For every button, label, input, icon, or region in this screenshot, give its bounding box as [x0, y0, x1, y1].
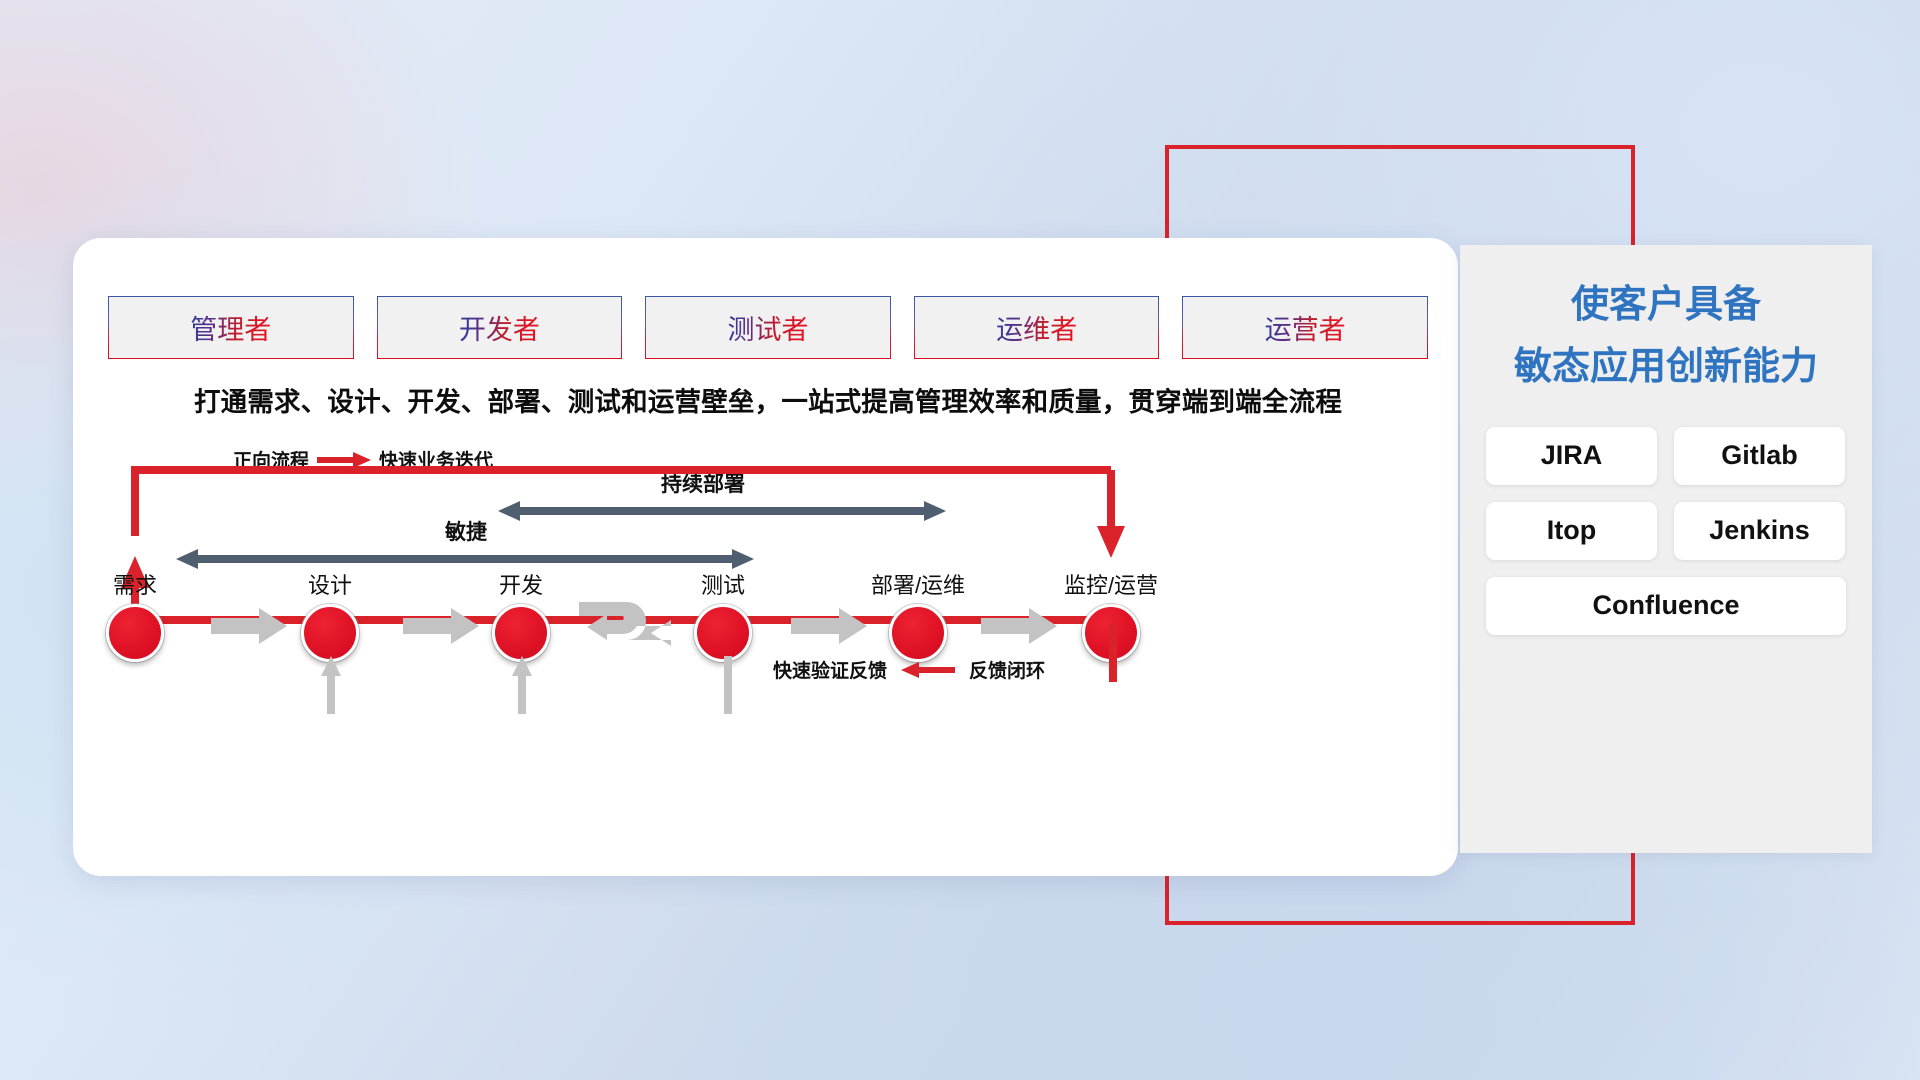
right-panel-title-line1: 使客户具备 [1486, 279, 1846, 333]
role-label: 管理者 [190, 308, 271, 347]
pipeline-row: 需求 设计 开发 测试 [73, 568, 1458, 698]
pipeline-node-testing[interactable]: 测试 [668, 568, 778, 662]
tool-chip-confluence[interactable]: Confluence [1486, 577, 1846, 635]
pipeline-node-requirement[interactable]: 需求 [80, 568, 190, 662]
band-label-continuous-deployment: 持续部署 [661, 468, 745, 498]
role-label: 开发者 [459, 308, 540, 347]
legend-forward-flow: 正向流程 快速业务迭代 [233, 446, 493, 473]
red-right-arrow-icon [317, 451, 371, 469]
right-panel-title: 使客户具备 敏态应用创新能力 [1486, 279, 1846, 395]
role-box-operator[interactable]: 运营者 [1182, 296, 1428, 359]
role-box-manager[interactable]: 管理者 [108, 296, 354, 359]
right-panel-title-line2: 敏态应用创新能力 [1486, 341, 1846, 395]
tool-chip-gitlab[interactable]: Gitlab [1674, 427, 1845, 485]
node-label: 监控/运营 [1056, 568, 1166, 600]
double-arrow-continuous-deployment-icon [498, 500, 946, 522]
red-left-arrow-icon [901, 661, 955, 679]
cycle-arrow-icon [579, 594, 671, 656]
pipeline-node-development[interactable]: 开发 [466, 568, 576, 662]
node-dot [301, 604, 359, 662]
node-dot [694, 604, 752, 662]
role-box-ops[interactable]: 运维者 [914, 296, 1160, 359]
block-arrow-up-icon [511, 656, 533, 714]
double-arrow-agile-icon [176, 548, 754, 570]
main-diagram-card: 管理者 开发者 测试者 运维者 运营者 打通需求、设计、开发、部署、测试和运营壁… [73, 238, 1458, 876]
node-label: 部署/运维 [863, 568, 973, 600]
node-label: 设计 [275, 568, 385, 600]
role-label: 测试者 [727, 308, 808, 347]
node-dot [492, 604, 550, 662]
node-label: 测试 [668, 568, 778, 600]
role-label: 运维者 [996, 308, 1077, 347]
tool-chip-list: JIRA Gitlab Itop Jenkins Confluence [1486, 427, 1846, 635]
pipeline-stem-icon [717, 656, 739, 714]
legend-feedback-loop: 快速验证反馈 反馈闭环 [773, 656, 1045, 683]
legend-forward-to-label: 快速业务迭代 [379, 446, 493, 473]
right-tools-panel: 使客户具备 敏态应用创新能力 JIRA Gitlab Itop Jenkins … [1460, 245, 1872, 853]
node-dot [106, 604, 164, 662]
node-label: 开发 [466, 568, 576, 600]
band-label-agile: 敏捷 [445, 516, 487, 546]
block-arrow-right-icon [981, 606, 1057, 646]
tool-chip-itop[interactable]: Itop [1486, 502, 1657, 560]
pipeline-node-design[interactable]: 设计 [275, 568, 385, 662]
block-arrow-up-icon [320, 656, 342, 714]
block-arrow-right-icon [791, 606, 867, 646]
tool-chip-jenkins[interactable]: Jenkins [1674, 502, 1845, 560]
legend-feedback-from-label: 快速验证反馈 [773, 656, 887, 683]
pipeline-node-deploy-ops[interactable]: 部署/运维 [863, 568, 973, 662]
role-box-developer[interactable]: 开发者 [377, 296, 623, 359]
subtitle-text: 打通需求、设计、开发、部署、测试和运营壁垒，一站式提高管理效率和质量，贯穿端到端… [108, 380, 1428, 419]
tool-chip-jira[interactable]: JIRA [1486, 427, 1657, 485]
legend-feedback-to-label: 反馈闭环 [969, 656, 1045, 683]
node-dot [889, 604, 947, 662]
legend-forward-from-label: 正向流程 [233, 446, 309, 473]
role-box-tester[interactable]: 测试者 [645, 296, 891, 359]
role-label: 运营者 [1265, 308, 1346, 347]
monitor-node-red-stem [1102, 624, 1124, 682]
node-label: 需求 [80, 568, 190, 600]
role-boxes-row: 管理者 开发者 测试者 运维者 运营者 [108, 296, 1428, 359]
